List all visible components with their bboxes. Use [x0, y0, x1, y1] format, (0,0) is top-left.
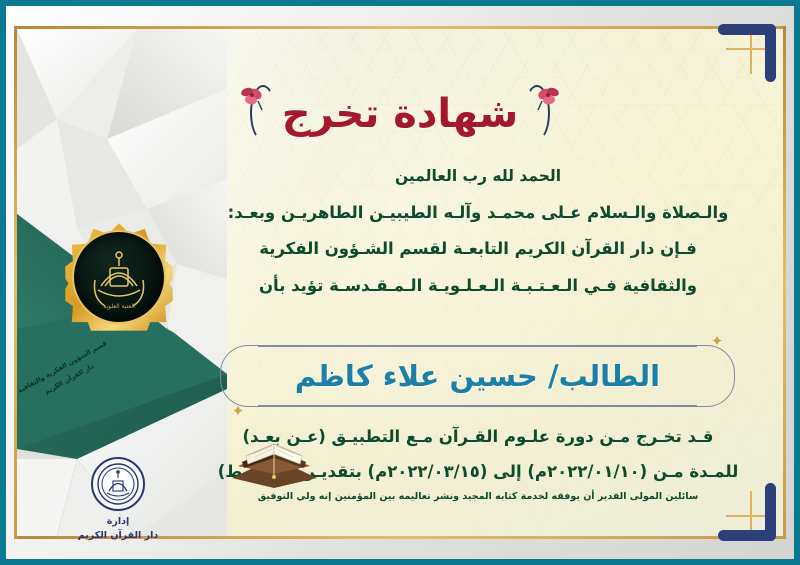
flower-left-icon [236, 77, 266, 107]
seal-caption-line-1: إدارة [60, 515, 176, 529]
administration-seal: إدارة دار القرآن الكريم [60, 457, 176, 543]
body-line-4: والثقافية فـي الـعـتـبـة الـعـلـويـة الـ… [207, 278, 749, 295]
flower-right-icon [534, 77, 564, 107]
footer-note: سائلين المولى القدير أن يوفقه لخدمة كتاب… [207, 491, 749, 502]
corner-bracket-top-right [714, 24, 776, 86]
flower-icon [236, 83, 266, 113]
student-name-plate: ✦ ✦ الطالب/ حسين علاء كاظم [212, 341, 743, 411]
gold-rule-top [14, 26, 786, 29]
bracket-arm-vertical [765, 483, 776, 541]
page-title: شهادة تخرج [282, 91, 518, 137]
body-line-3: فـإن دار القرآن الكريم التابعـة لقسم الش… [207, 241, 749, 258]
emblem-calligraphy-icon: العتبة العلوية [72, 230, 166, 324]
certificate-title-row: شهادة تخرج [17, 91, 783, 137]
quran-on-rehal-icon [222, 428, 327, 490]
shrine-emblem: العتبة العلوية [58, 216, 180, 338]
student-name: الطالب/ حسين علاء كاظم [212, 341, 743, 411]
bracket-arm-vertical [765, 24, 776, 82]
seal-ring-icon [91, 457, 145, 511]
quran-house-seal-icon [95, 461, 141, 507]
body-line-2: والـصلاة والـسلام عـلى محمـد وآلـه الطيب… [207, 205, 749, 222]
body-line-1: الحمد لله رب العالمين [207, 169, 749, 185]
quran-illustration [222, 428, 327, 490]
certificate-canvas: شهادة تخرج الحمد لله رب العالمين والـصلا… [0, 0, 800, 565]
gold-rule-left [14, 26, 17, 539]
body-text-block: الحمد لله رب العالمين والـصلاة والـسلام … [207, 169, 749, 314]
flower-icon [534, 83, 564, 113]
seal-caption-line-2: دار القرآن الكريم [60, 529, 176, 543]
gold-rule-right [783, 26, 786, 539]
corner-bracket-bottom-right [714, 479, 776, 541]
svg-text:العتبة العلوية: العتبة العلوية [103, 303, 135, 310]
